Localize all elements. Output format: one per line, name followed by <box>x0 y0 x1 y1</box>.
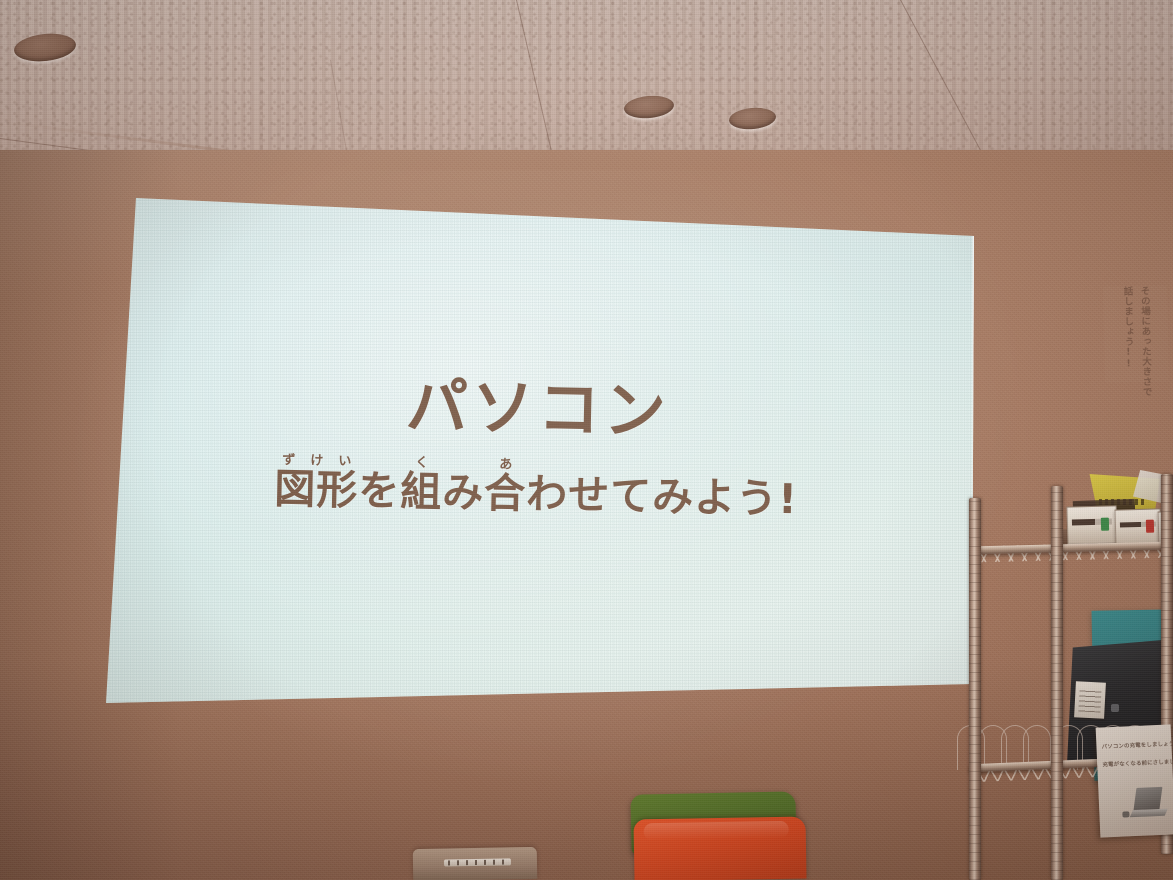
subtitle-base-0: 図形 <box>274 465 359 515</box>
chair-orange <box>633 817 806 880</box>
laptop-base-icon <box>1129 808 1166 816</box>
subtitle-base-2: 組 <box>400 467 443 516</box>
box-color-chip <box>1146 520 1154 533</box>
slide-title: パソコン <box>100 369 975 449</box>
subtitle-rt-4: あ <box>485 457 527 473</box>
wall-sign-line-1: その場にあった大きさで <box>1136 286 1152 397</box>
subtitle-base-5: わせてみよう! <box>526 470 799 523</box>
device-control-panel[interactable] <box>444 858 511 866</box>
laptop-charging-notice: パソコンの充電をしましょう 充電がなくなる前にさしましょう <box>1096 724 1173 837</box>
shelf-post <box>969 498 981 880</box>
charge-notice-line-2: 充電がなくなる前にさしましょう <box>1102 758 1167 769</box>
box-color-chip <box>1101 517 1109 530</box>
subtitle-ruby-ku: 組く <box>400 467 443 516</box>
slide-subtitle: 図形ずけいを組くみ合あわせてみよう! <box>99 449 974 524</box>
slide-inner: パソコン 図形ずけいを組くみ合あわせてみよう! <box>95 181 979 713</box>
subtitle-ruby-zukei: 図形ずけい <box>274 465 359 515</box>
wall-sign-line-2: 話しましょう!! <box>1119 286 1135 370</box>
shelf-post <box>1051 486 1063 880</box>
storage-box <box>1115 508 1162 545</box>
storage-box <box>1067 505 1118 544</box>
chair-highlight <box>644 821 789 841</box>
subtitle-base-3: み <box>442 468 485 517</box>
subtitle-ruby-a: 合あ <box>484 469 527 518</box>
slide-content: パソコン 図形ずけいを組くみ合あわせてみよう! <box>100 190 974 705</box>
post-rings <box>969 498 981 880</box>
plug-icon <box>1122 811 1130 818</box>
post-rings <box>1051 486 1063 880</box>
rack-label-text <box>1078 688 1102 712</box>
rack-label-card <box>1074 681 1106 719</box>
subtitle-base-1: を <box>358 466 401 515</box>
wall-sign-speak-quietly: その場にあった大きさで 話しましょう!! <box>1103 285 1169 382</box>
classroom-photo-scene: パソコン 図形ずけいを組くみ合あわせてみよう! その場にあった大きさで 話しまし… <box>0 0 1173 880</box>
subtitle-rt-0: ずけい <box>275 453 359 470</box>
projector-unit <box>413 847 538 880</box>
subtitle-base-4: 合 <box>484 469 527 518</box>
subtitle-rt-2: く <box>401 455 443 471</box>
charge-notice-line-1: パソコンの充電をしましょう <box>1102 740 1167 751</box>
device-buttons[interactable] <box>448 860 507 866</box>
